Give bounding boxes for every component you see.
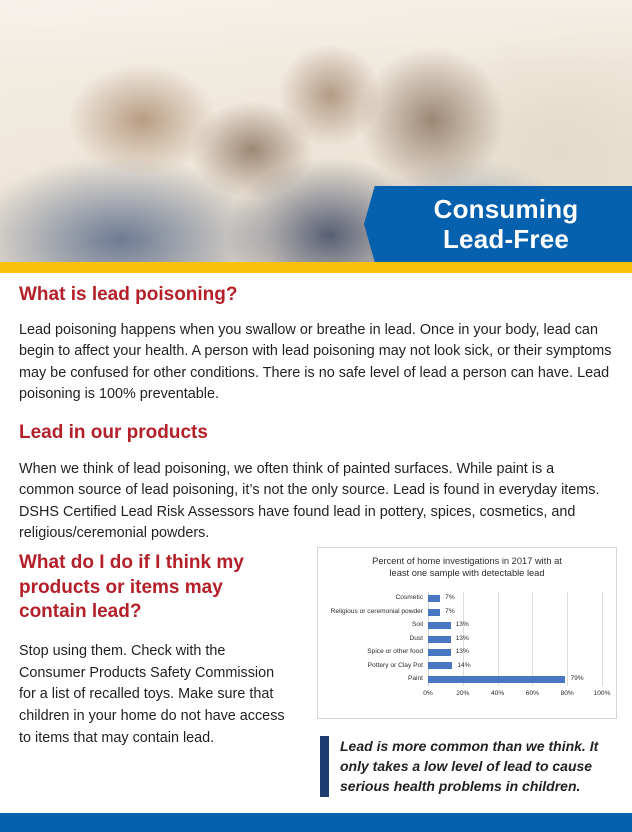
- pull-quote: Lead is more common than we think. It on…: [320, 736, 620, 797]
- chart-bar-value-label: 79%: [570, 676, 583, 683]
- chart-bars-region: Cosmetic7%Religious or ceremonial powder…: [428, 592, 602, 686]
- chart-bar-value-label: 13%: [456, 636, 469, 643]
- title-line-1: Consuming: [434, 194, 579, 224]
- section-lead-in-our-products: Lead in our products When we think of le…: [19, 421, 601, 545]
- chart-category-label: Religious or ceremonial powder: [331, 609, 423, 616]
- chart-bar: [428, 622, 451, 629]
- chart-title-line-2: least one sample with detectable lead: [389, 568, 544, 578]
- chart-bar-value-label: 13%: [456, 622, 469, 629]
- section-paragraph: Stop using them. Check with the Consumer…: [19, 641, 291, 749]
- chart-category-label: Dust: [409, 636, 423, 643]
- section-heading: What is lead poisoning?: [19, 283, 613, 307]
- chart-x-tick-label: 20%: [456, 690, 469, 697]
- chart-bar-row: Cosmetic7%: [428, 592, 602, 605]
- chart-bar: [428, 595, 440, 602]
- pull-quote-text: Lead is more common than we think. It on…: [340, 736, 620, 797]
- chart-x-tick-label: 100%: [594, 690, 611, 697]
- chart-bar-row: Paint79%: [428, 673, 602, 686]
- chart-title-line-1: Percent of home investigations in 2017 w…: [372, 556, 562, 566]
- chart-category-label: Cosmetic: [396, 595, 423, 602]
- chart-card: Percent of home investigations in 2017 w…: [317, 547, 617, 719]
- chart-bar: [428, 662, 452, 669]
- section-paragraph: When we think of lead poisoning, we ofte…: [19, 459, 601, 545]
- section-heading: What do I do if I think my products or i…: [19, 551, 291, 625]
- chart-x-tick-label: 0%: [423, 690, 433, 697]
- chart-bar-row: Religious or ceremonial powder7%: [428, 606, 602, 619]
- chart-x-tick-label: 60%: [526, 690, 539, 697]
- chart-gridline: [602, 592, 603, 686]
- chart-category-label: Soil: [412, 622, 423, 629]
- section-what-do-i-do: What do I do if I think my products or i…: [19, 551, 291, 749]
- chart-bar-value-label: 13%: [456, 649, 469, 656]
- chart-bar-value-label: 7%: [445, 595, 455, 602]
- chart-bar-value-label: 7%: [445, 609, 455, 616]
- chart-bar: [428, 636, 451, 643]
- chart-bar: [428, 609, 440, 616]
- chart-category-label: Spice or other food: [367, 649, 423, 656]
- chart-bar-row: Spice or other food13%: [428, 646, 602, 659]
- title-banner: Consuming Lead-Free: [364, 186, 632, 262]
- chart-bar-value-label: 14%: [457, 663, 470, 670]
- chart-category-label: Paint: [408, 676, 423, 683]
- chart-category-label: Pottery or Clay Pot: [368, 663, 423, 670]
- yellow-divider: [0, 262, 632, 273]
- chart-x-axis: 0%20%40%60%80%100%: [428, 690, 602, 702]
- chart-bar-row: Soil13%: [428, 619, 602, 632]
- chart-title: Percent of home investigations in 2017 w…: [332, 555, 602, 580]
- chart-bar-row: Pottery or Clay Pot14%: [428, 659, 602, 672]
- chart-bar: [428, 649, 451, 656]
- chart-x-tick-label: 40%: [491, 690, 504, 697]
- chart-bar-row: Dust13%: [428, 633, 602, 646]
- section-heading: Lead in our products: [19, 421, 601, 445]
- section-what-is-lead-poisoning: What is lead poisoning? Lead poisoning h…: [19, 283, 613, 406]
- section-paragraph: Lead poisoning happens when you swallow …: [19, 320, 613, 406]
- chart-bar: [428, 676, 565, 683]
- chart-plot-area: Cosmetic7%Religious or ceremonial powder…: [324, 592, 612, 712]
- title-line-2: Lead-Free: [443, 224, 569, 254]
- footer-bar: [0, 813, 632, 832]
- pull-quote-accent-bar: [320, 736, 329, 797]
- chart-x-tick-label: 80%: [561, 690, 574, 697]
